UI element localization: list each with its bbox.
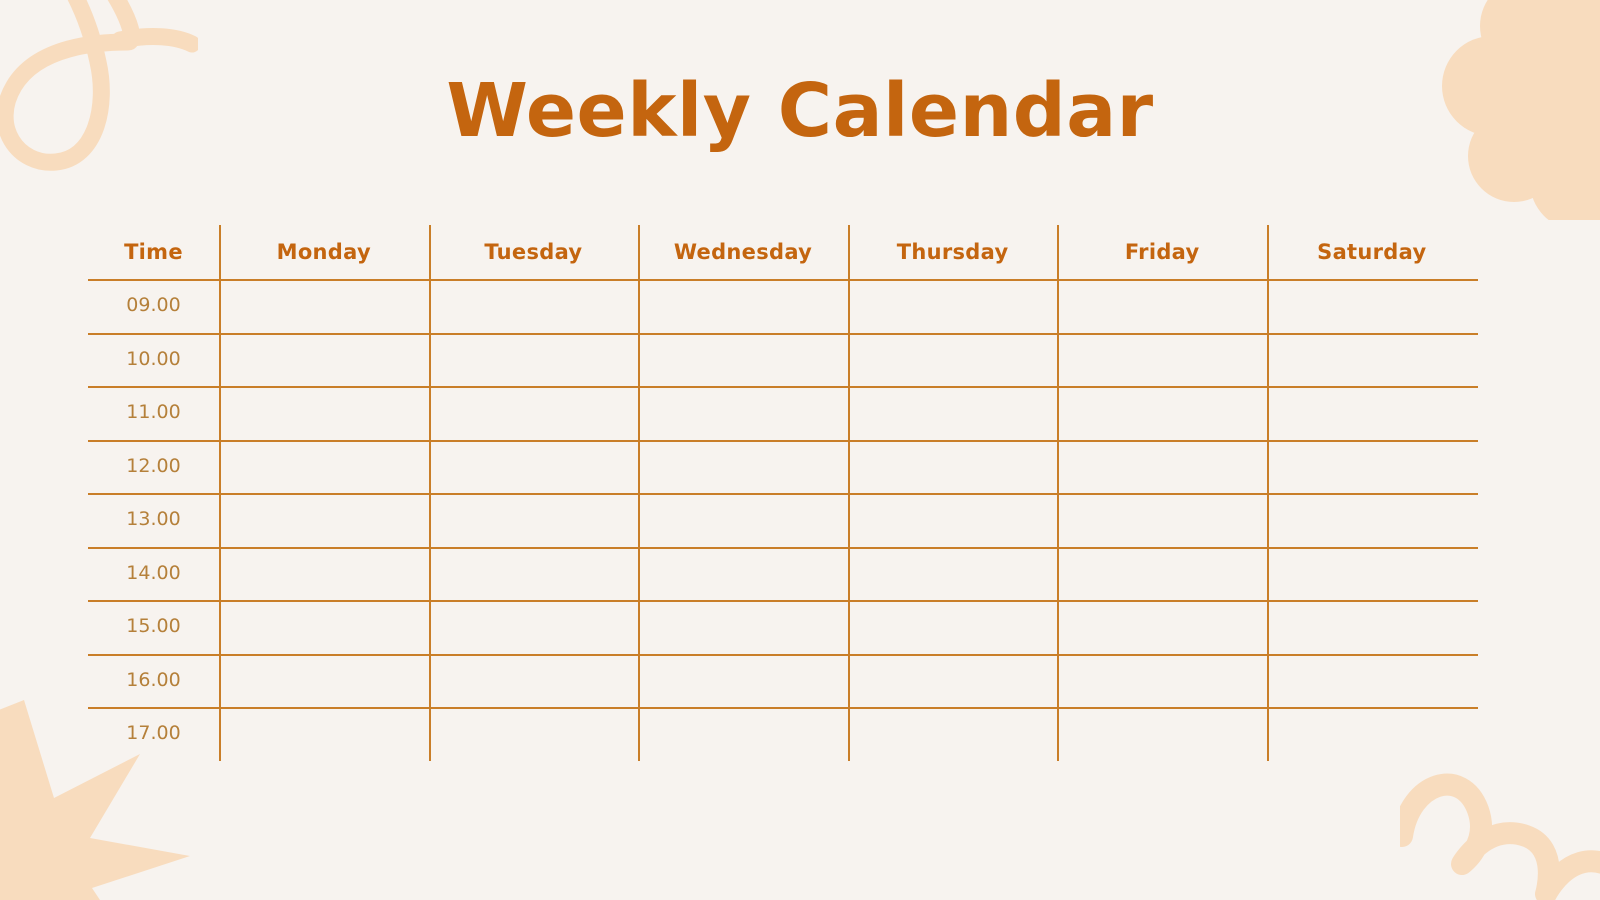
time-label: 09.00 (88, 279, 219, 333)
time-label: 10.00 (88, 333, 219, 387)
schedule-slot[interactable] (219, 279, 429, 333)
column-header-thursday: Thursday (848, 225, 1058, 279)
schedule-slot[interactable] (1057, 493, 1267, 547)
column-header-saturday: Saturday (1267, 225, 1477, 279)
schedule-slot[interactable] (638, 279, 848, 333)
schedule-slot[interactable] (638, 600, 848, 654)
time-label: 16.00 (88, 654, 219, 708)
schedule-slot[interactable] (848, 600, 1058, 654)
schedule-slot[interactable] (219, 600, 429, 654)
schedule-slot[interactable] (429, 440, 639, 494)
schedule-slot[interactable] (638, 547, 848, 601)
schedule-slot[interactable] (1057, 547, 1267, 601)
schedule-slot[interactable] (219, 386, 429, 440)
schedule-slot[interactable] (1057, 654, 1267, 708)
schedule-slot[interactable] (848, 279, 1058, 333)
schedule-slot[interactable] (848, 386, 1058, 440)
schedule-slot[interactable] (429, 707, 639, 761)
time-label: 15.00 (88, 600, 219, 654)
time-label: 11.00 (88, 386, 219, 440)
schedule-slot[interactable] (219, 493, 429, 547)
schedule-slot[interactable] (1267, 279, 1477, 333)
schedule-slot[interactable] (429, 333, 639, 387)
schedule-slot[interactable] (848, 333, 1058, 387)
schedule-slot[interactable] (429, 654, 639, 708)
schedule-slot[interactable] (1267, 440, 1477, 494)
schedule-slot[interactable] (848, 547, 1058, 601)
schedule-slot[interactable] (638, 707, 848, 761)
weekly-calendar-table: TimeMondayTuesdayWednesdayThursdayFriday… (88, 225, 1478, 765)
schedule-slot[interactable] (638, 654, 848, 708)
schedule-slot[interactable] (429, 493, 639, 547)
schedule-slot[interactable] (1057, 707, 1267, 761)
time-label: 13.00 (88, 493, 219, 547)
time-label: 12.00 (88, 440, 219, 494)
column-header-tuesday: Tuesday (429, 225, 639, 279)
schedule-slot[interactable] (219, 440, 429, 494)
schedule-slot[interactable] (1057, 279, 1267, 333)
column-header-wednesday: Wednesday (638, 225, 848, 279)
schedule-slot[interactable] (219, 707, 429, 761)
column-header-friday: Friday (1057, 225, 1267, 279)
schedule-slot[interactable] (848, 707, 1058, 761)
page-title: Weekly Calendar (0, 74, 1600, 148)
schedule-slot[interactable] (1267, 333, 1477, 387)
schedule-slot[interactable] (848, 440, 1058, 494)
schedule-slot[interactable] (1057, 440, 1267, 494)
time-label: 14.00 (88, 547, 219, 601)
schedule-slot[interactable] (638, 440, 848, 494)
schedule-slot[interactable] (638, 493, 848, 547)
column-header-monday: Monday (219, 225, 429, 279)
calendar-page: Weekly Calendar TimeMondayTuesdayWednesd… (0, 0, 1600, 900)
schedule-slot[interactable] (848, 654, 1058, 708)
schedule-slot[interactable] (429, 386, 639, 440)
schedule-slot[interactable] (1267, 547, 1477, 601)
column-header-time: Time (88, 225, 219, 279)
schedule-slot[interactable] (1057, 600, 1267, 654)
schedule-slot[interactable] (1267, 707, 1477, 761)
schedule-slot[interactable] (1057, 386, 1267, 440)
schedule-slot[interactable] (219, 333, 429, 387)
schedule-slot[interactable] (638, 333, 848, 387)
schedule-slot[interactable] (429, 547, 639, 601)
schedule-slot[interactable] (1267, 654, 1477, 708)
schedule-slot[interactable] (1267, 493, 1477, 547)
time-label: 17.00 (88, 707, 219, 761)
schedule-slot[interactable] (429, 279, 639, 333)
schedule-slot[interactable] (1267, 386, 1477, 440)
schedule-slot[interactable] (638, 386, 848, 440)
wavy-scallop-decoration (1400, 752, 1600, 900)
schedule-slot[interactable] (1267, 600, 1477, 654)
schedule-slot[interactable] (848, 493, 1058, 547)
schedule-slot[interactable] (429, 600, 639, 654)
schedule-slot[interactable] (219, 547, 429, 601)
schedule-slot[interactable] (219, 654, 429, 708)
schedule-slot[interactable] (1057, 333, 1267, 387)
